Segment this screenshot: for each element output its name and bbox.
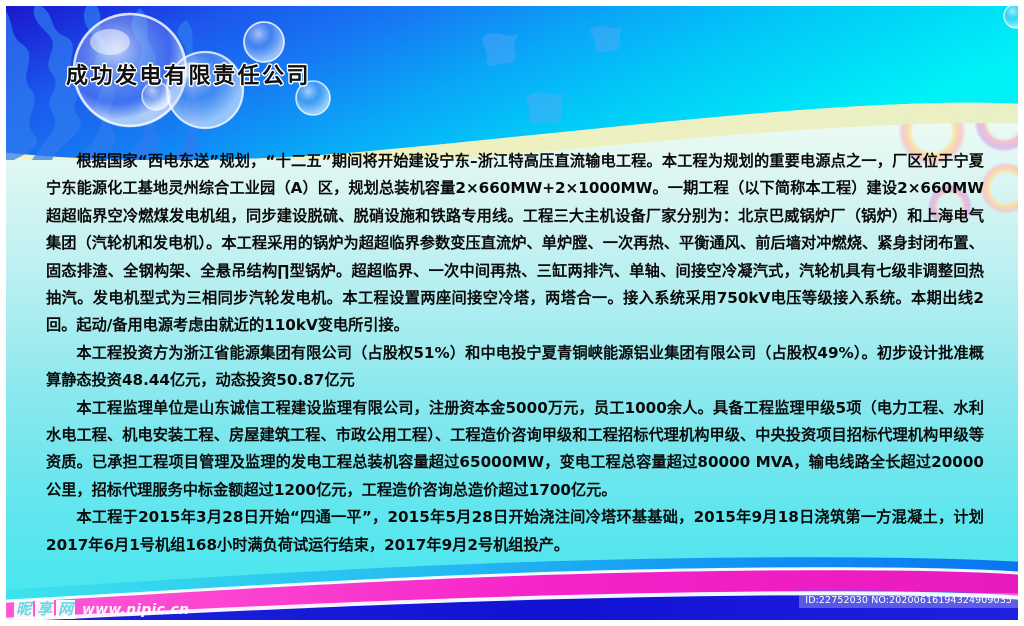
watermark-logo-char-2: 享 xyxy=(35,600,54,619)
article-body: 根据国家“西电东送”规划，“十二五”期间将开始建设宁东–浙江特高压直流输电工程。… xyxy=(46,148,984,559)
paragraph-schedule: 本工程于2015年3月28日开始“四通一平”，2015年5月28日开始浇注间冷塔… xyxy=(46,504,984,559)
poster-canvas: 成功发电有限责任公司 根据国家“西电东送”规划，“十二五”期间将开始建设宁东–浙… xyxy=(0,0,1024,626)
nipic-watermark: 昵 享 网 www.nipic.cn xyxy=(14,600,189,619)
paragraph-supervision-unit: 本工程监理单位是山东诚信工程建设监理有限公司，注册资本金5000万元，员工100… xyxy=(46,395,984,505)
paragraph-project-overview: 根据国家“西电东送”规划，“十二五”期间将开始建设宁东–浙江特高压直流输电工程。… xyxy=(46,148,984,340)
watermark-logo-char-1: 昵 xyxy=(14,600,33,619)
watermark-logo: 昵 享 网 xyxy=(14,600,75,619)
page-title: 成功发电有限责任公司 xyxy=(66,58,311,90)
watermark-logo-char-3: 网 xyxy=(56,600,75,619)
watermark-url: www.nipic.cn xyxy=(82,602,189,618)
image-id-badge: ID:22752030 NO:20200616194324909035 xyxy=(799,593,1018,608)
paragraph-investment: 本工程投资方为浙江省能源集团有限公司（占股权51%）和中电投宁夏青铜峡能源铝业集… xyxy=(46,340,984,395)
header-banner: 成功发电有限责任公司 xyxy=(0,0,1024,160)
